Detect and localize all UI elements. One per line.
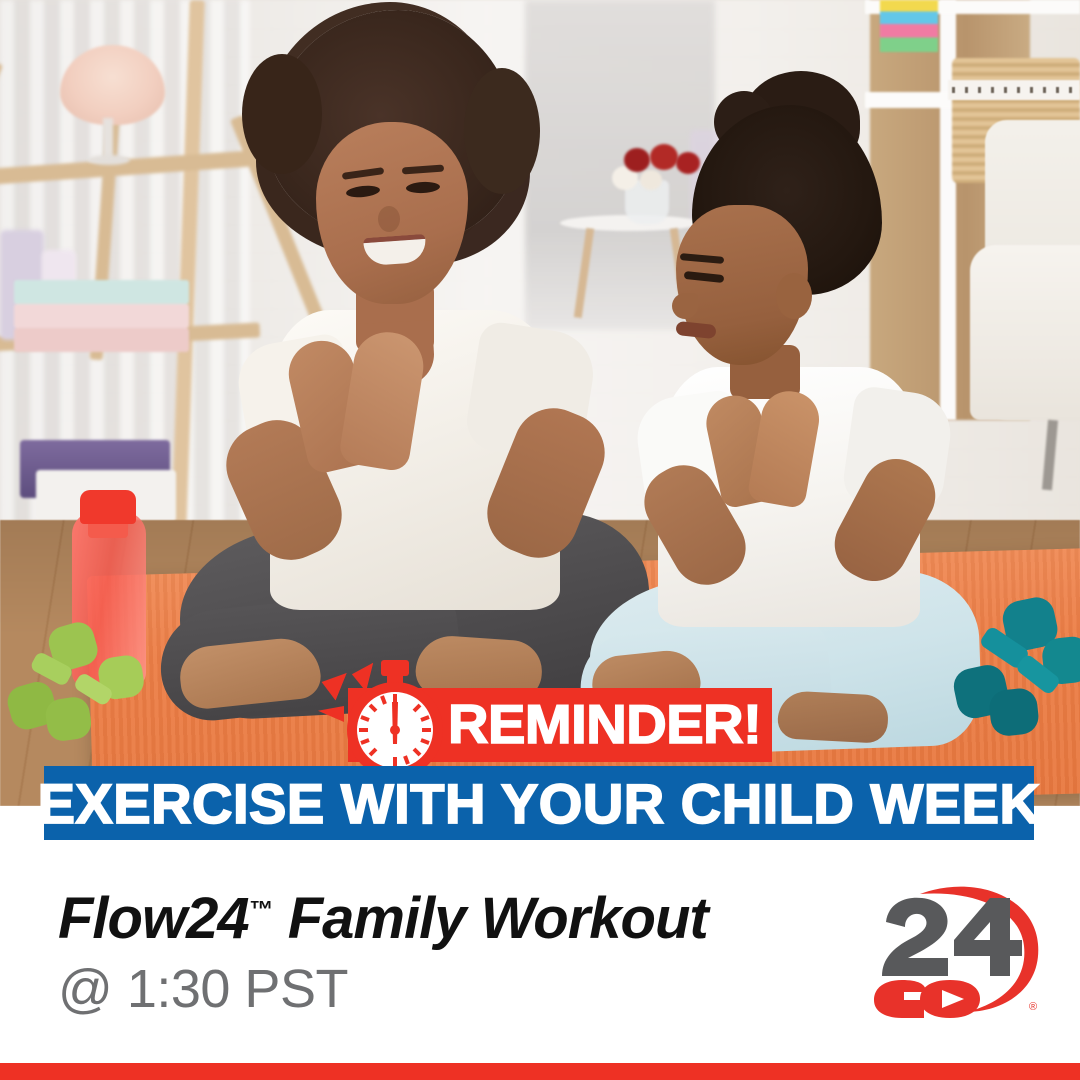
headline-banner-text: EXERCISE WITH YOUR CHILD WEEK xyxy=(38,771,1041,836)
logo-number-24 xyxy=(882,898,1022,976)
basket-ribbon-dots xyxy=(952,87,1078,93)
24go-logo: ® xyxy=(862,878,1052,1018)
child-nose xyxy=(672,293,698,319)
workout-time: @ 1:30 PST xyxy=(58,958,348,1020)
reminder-label: REMINDER! xyxy=(448,693,761,755)
child-figure xyxy=(580,105,1000,745)
logo-registered-mark: ® xyxy=(1029,1001,1037,1013)
logo-word-go xyxy=(874,980,980,1018)
child-lips xyxy=(675,321,716,339)
stopwatch-icon xyxy=(330,660,460,780)
dumbbell-head xyxy=(988,687,1041,738)
colorful-toy-box xyxy=(880,0,938,52)
water-bottle-cap xyxy=(80,490,136,524)
workout-title: Flow24™ Family Workout xyxy=(58,885,708,952)
promo-canvas: REMINDER! EXERCISE WITH YOUR CHILD WEEK … xyxy=(0,0,1080,1080)
trademark-symbol: ™ xyxy=(249,897,273,924)
candy-jar-stem xyxy=(103,118,113,160)
woman-figure xyxy=(120,10,640,750)
child-ear xyxy=(776,273,812,319)
teal-dumbbell-b xyxy=(983,635,1080,750)
child-foot-right xyxy=(777,690,889,744)
dumbbell-head xyxy=(44,695,93,743)
workout-title-suffix: Family Workout xyxy=(273,886,708,951)
headline-banner: EXERCISE WITH YOUR CHILD WEEK xyxy=(44,766,1034,840)
workout-title-name: Flow24 xyxy=(58,886,249,951)
footer-red-stripe xyxy=(0,1063,1080,1080)
hero-photo xyxy=(0,0,1080,806)
green-dumbbell-b xyxy=(35,653,157,748)
woman-nose xyxy=(378,206,400,232)
